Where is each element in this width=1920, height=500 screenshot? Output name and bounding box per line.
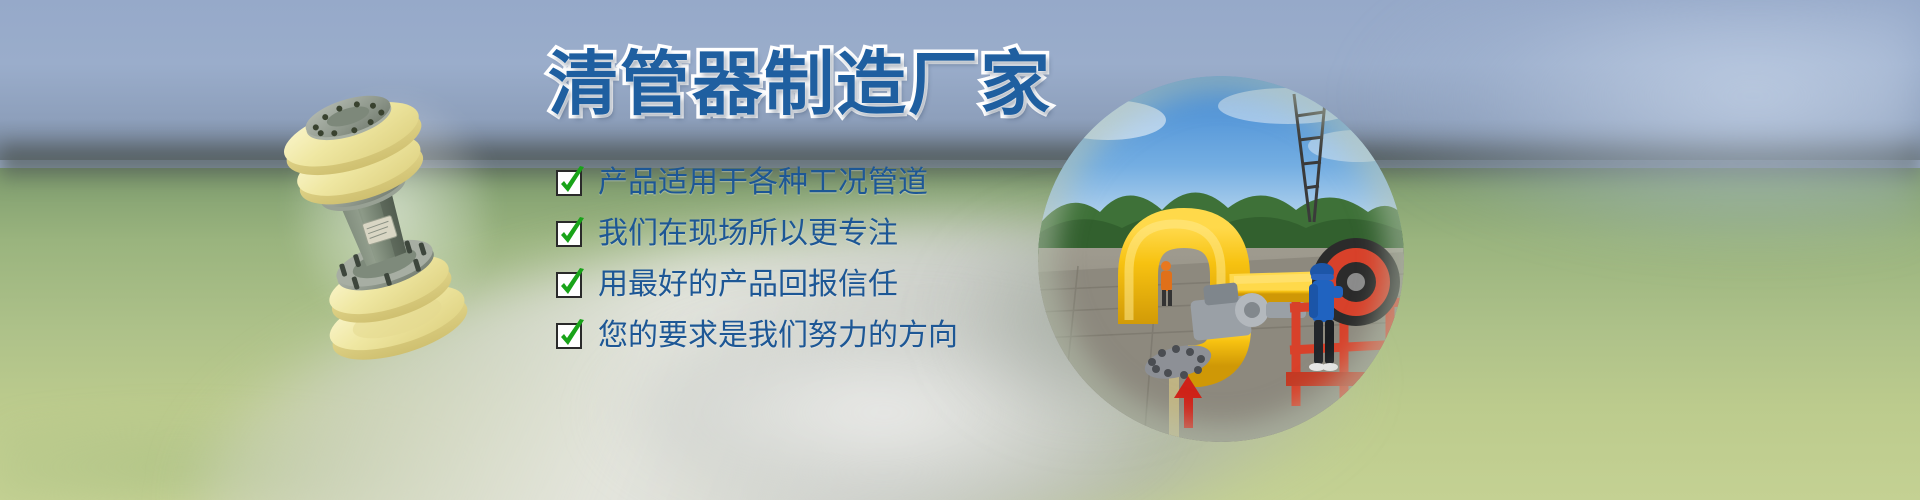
list-item: 我们在现场所以更专注 xyxy=(556,211,958,257)
list-item-label: 产品适用于各种工况管道 xyxy=(598,166,928,200)
checkbox-checked-icon xyxy=(556,272,582,298)
list-item-label: 您的要求是我们努力的方向 xyxy=(598,319,958,353)
pipeline-station-circular-photo xyxy=(1038,76,1404,442)
pipeline-station-illustration xyxy=(1038,76,1404,442)
pipeline-pig-product-image xyxy=(248,58,528,368)
checkbox-checked-icon xyxy=(556,221,582,247)
list-item: 您的要求是我们努力的方向 xyxy=(556,313,958,359)
list-item-label: 我们在现场所以更专注 xyxy=(598,217,898,251)
checkbox-checked-icon xyxy=(556,170,582,196)
pipeline-pig-illustration xyxy=(248,58,528,368)
promo-banner: 清管器制造厂家 产品适用于各种工况管道 我们在现场所以更专注 用最好的产品回报信… xyxy=(0,0,1920,500)
checkbox-checked-icon xyxy=(556,323,582,349)
list-item: 产品适用于各种工况管道 xyxy=(556,160,958,206)
list-item-label: 用最好的产品回报信任 xyxy=(598,268,898,302)
feature-list: 产品适用于各种工况管道 我们在现场所以更专注 用最好的产品回报信任 您的要求是我… xyxy=(556,160,958,364)
banner-headline: 清管器制造厂家 xyxy=(548,46,1052,122)
list-item: 用最好的产品回报信任 xyxy=(556,262,958,308)
